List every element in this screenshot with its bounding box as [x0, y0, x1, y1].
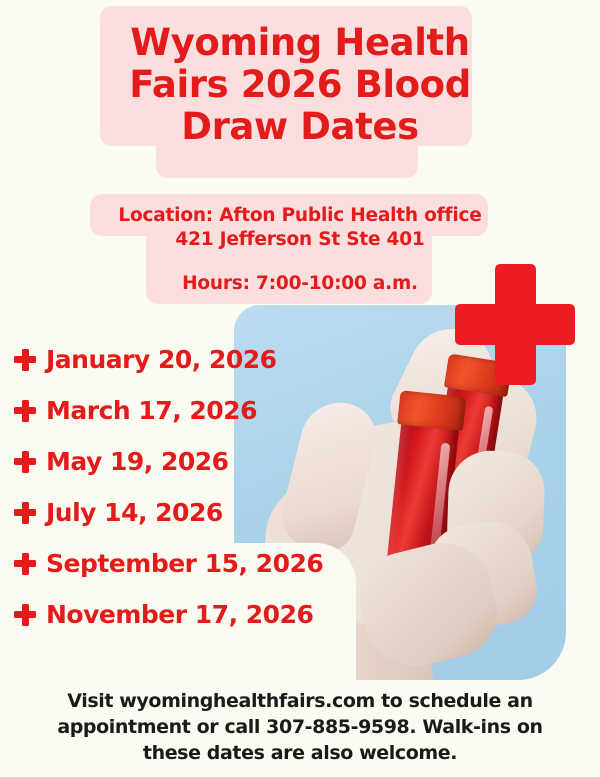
cross-horizontal-bar	[455, 304, 575, 345]
date-label: January 20, 2026	[46, 346, 277, 374]
plus-icon	[14, 451, 36, 473]
list-item: November 17, 2026	[14, 589, 354, 640]
title-line-2: Fairs 2026 Blood	[0, 64, 600, 106]
footer-line-3: these dates are also welcome.	[28, 740, 572, 766]
title-line-1: Wyoming Health	[0, 22, 600, 64]
location-line-2: 421 Jefferson St Ste 401	[0, 228, 600, 252]
title-line-3: Draw Dates	[0, 106, 600, 148]
plus-icon	[14, 553, 36, 575]
list-item: May 19, 2026	[14, 436, 354, 487]
list-item: March 17, 2026	[14, 385, 354, 436]
location-line-1: Location: Afton Public Health office	[0, 204, 600, 228]
date-label: July 14, 2026	[46, 499, 223, 527]
vial-cap-front	[397, 390, 466, 431]
location-spacer	[0, 252, 600, 272]
date-label: November 17, 2026	[46, 601, 313, 629]
list-item: January 20, 2026	[14, 334, 354, 385]
date-label: March 17, 2026	[46, 397, 257, 425]
plus-icon	[14, 604, 36, 626]
list-item: July 14, 2026	[14, 487, 354, 538]
plus-icon	[14, 349, 36, 371]
date-label: May 19, 2026	[46, 448, 229, 476]
plus-icon	[14, 400, 36, 422]
footer-line-2: appointment or call 307-885-9598. Walk-i…	[28, 714, 572, 740]
poster-canvas: Wyoming Health Fairs 2026 Blood Draw Dat…	[0, 0, 600, 777]
footer-line-1: Visit wyominghealthfairs.com to schedule…	[28, 688, 572, 714]
plus-icon	[14, 502, 36, 524]
list-item: September 15, 2026	[14, 538, 354, 589]
page-title: Wyoming Health Fairs 2026 Blood Draw Dat…	[0, 22, 600, 148]
footer-contact-info: Visit wyominghealthfairs.com to schedule…	[28, 688, 572, 766]
hours-line: Hours: 7:00-10:00 a.m.	[0, 272, 600, 296]
blood-draw-dates-list: January 20, 2026 March 17, 2026 May 19, …	[14, 334, 354, 640]
location-and-hours: Location: Afton Public Health office 421…	[0, 204, 600, 296]
date-label: September 15, 2026	[46, 550, 323, 578]
